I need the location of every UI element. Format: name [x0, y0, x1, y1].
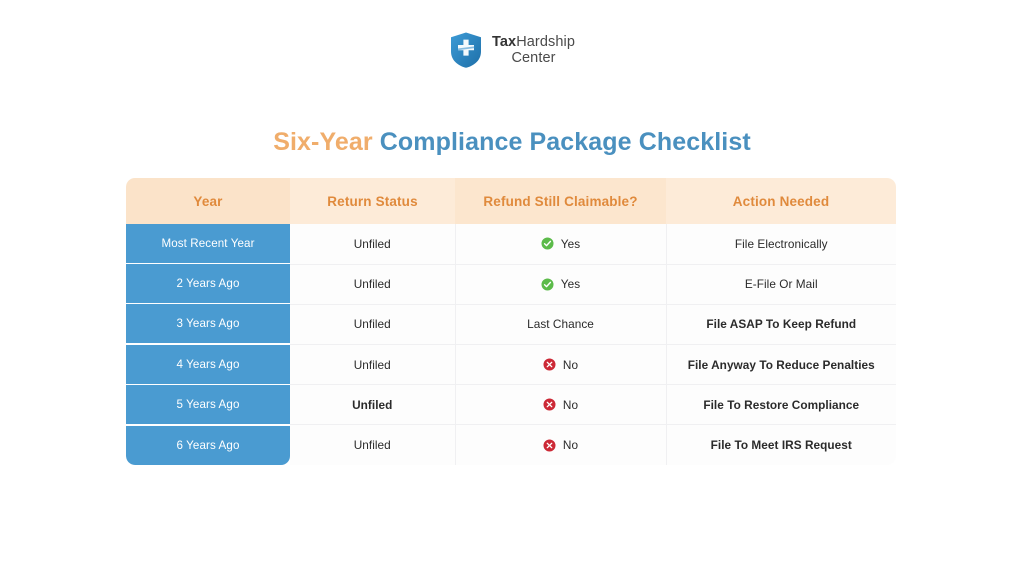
cell-refund-claimable: Yes: [455, 264, 666, 304]
cell-return-status: Unfiled: [290, 224, 455, 264]
cell-year: 4 Years Ago: [126, 345, 290, 385]
table-body: Most Recent YearUnfiledYesFile Electroni…: [126, 224, 896, 465]
cell-return-status: Unfiled: [290, 345, 455, 385]
cell-refund-claimable: No: [455, 345, 666, 385]
cell-action-needed: File Electronically: [666, 224, 896, 264]
cell-return-status: Unfiled: [290, 385, 455, 425]
x-circle-icon: [543, 439, 556, 452]
brand-name-bold: Tax: [492, 34, 516, 50]
cell-action-needed: E-File Or Mail: [666, 264, 896, 304]
cell-year: 2 Years Ago: [126, 264, 290, 304]
refund-status: Yes: [456, 237, 666, 251]
refund-status: No: [456, 358, 666, 372]
table-header: Year Return Status Refund Still Claimabl…: [126, 178, 896, 224]
refund-label: No: [563, 358, 578, 372]
brand-name-rest: Hardship: [516, 34, 575, 50]
year-label: 6 Years Ago: [126, 426, 290, 465]
refund-status: No: [456, 398, 666, 412]
compliance-table-container: Year Return Status Refund Still Claimabl…: [126, 178, 896, 465]
refund-status: No: [456, 438, 666, 452]
refund-status: Last Chance: [456, 317, 666, 331]
brand-name-line2: Center: [492, 50, 575, 67]
cell-return-status: Unfiled: [290, 304, 455, 344]
check-circle-icon: [541, 278, 554, 291]
year-label: 2 Years Ago: [126, 264, 290, 303]
page-title-accent: Six-Year: [273, 128, 372, 156]
refund-label: No: [563, 438, 578, 452]
cell-action-needed: File To Restore Compliance: [666, 385, 896, 425]
cell-refund-claimable: Last Chance: [455, 304, 666, 344]
table-row: 4 Years AgoUnfiledNoFile Anyway To Reduc…: [126, 345, 896, 385]
page-title-main: Compliance Package Checklist: [380, 128, 751, 156]
cell-return-status: Unfiled: [290, 264, 455, 304]
refund-label: Yes: [561, 237, 580, 251]
year-label: Most Recent Year: [126, 224, 290, 263]
refund-status: Yes: [456, 277, 666, 291]
column-header-refund-claimable: Refund Still Claimable?: [455, 178, 666, 224]
compliance-table: Year Return Status Refund Still Claimabl…: [126, 178, 896, 465]
shield-plus-icon: [449, 31, 483, 69]
cell-action-needed: File To Meet IRS Request: [666, 425, 896, 465]
column-header-action-needed: Action Needed: [666, 178, 896, 224]
table-row: 2 Years AgoUnfiledYesE-File Or Mail: [126, 264, 896, 304]
column-header-year: Year: [126, 178, 290, 224]
refund-label: Yes: [561, 277, 580, 291]
cell-year: 6 Years Ago: [126, 425, 290, 465]
cell-refund-claimable: No: [455, 385, 666, 425]
cell-year: 3 Years Ago: [126, 304, 290, 344]
page-title: Six-Year Compliance Package Checklist: [0, 128, 1024, 157]
cell-action-needed: File ASAP To Keep Refund: [666, 304, 896, 344]
brand-name: TaxHardship Center: [492, 34, 575, 67]
cell-refund-claimable: No: [455, 425, 666, 465]
table-row: 6 Years AgoUnfiledNoFile To Meet IRS Req…: [126, 425, 896, 465]
cell-refund-claimable: Yes: [455, 224, 666, 264]
check-circle-icon: [541, 237, 554, 250]
x-circle-icon: [543, 358, 556, 371]
cell-year: Most Recent Year: [126, 224, 290, 264]
cell-year: 5 Years Ago: [126, 385, 290, 425]
cell-return-status: Unfiled: [290, 425, 455, 465]
refund-label: Last Chance: [527, 317, 594, 331]
year-label: 4 Years Ago: [126, 345, 290, 384]
year-label: 3 Years Ago: [126, 304, 290, 343]
column-header-return-status: Return Status: [290, 178, 455, 224]
refund-label: No: [563, 398, 578, 412]
brand-logo: TaxHardship Center: [0, 31, 1024, 69]
table-row: Most Recent YearUnfiledYesFile Electroni…: [126, 224, 896, 264]
x-circle-icon: [543, 398, 556, 411]
cell-action-needed: File Anyway To Reduce Penalties: [666, 345, 896, 385]
year-label: 5 Years Ago: [126, 385, 290, 424]
table-row: 3 Years AgoUnfiledLast ChanceFile ASAP T…: [126, 304, 896, 344]
table-header-row: Year Return Status Refund Still Claimabl…: [126, 178, 896, 224]
infographic-page: TaxHardship Center Six-Year Compliance P…: [0, 0, 1024, 580]
table-row: 5 Years AgoUnfiledNoFile To Restore Comp…: [126, 385, 896, 425]
